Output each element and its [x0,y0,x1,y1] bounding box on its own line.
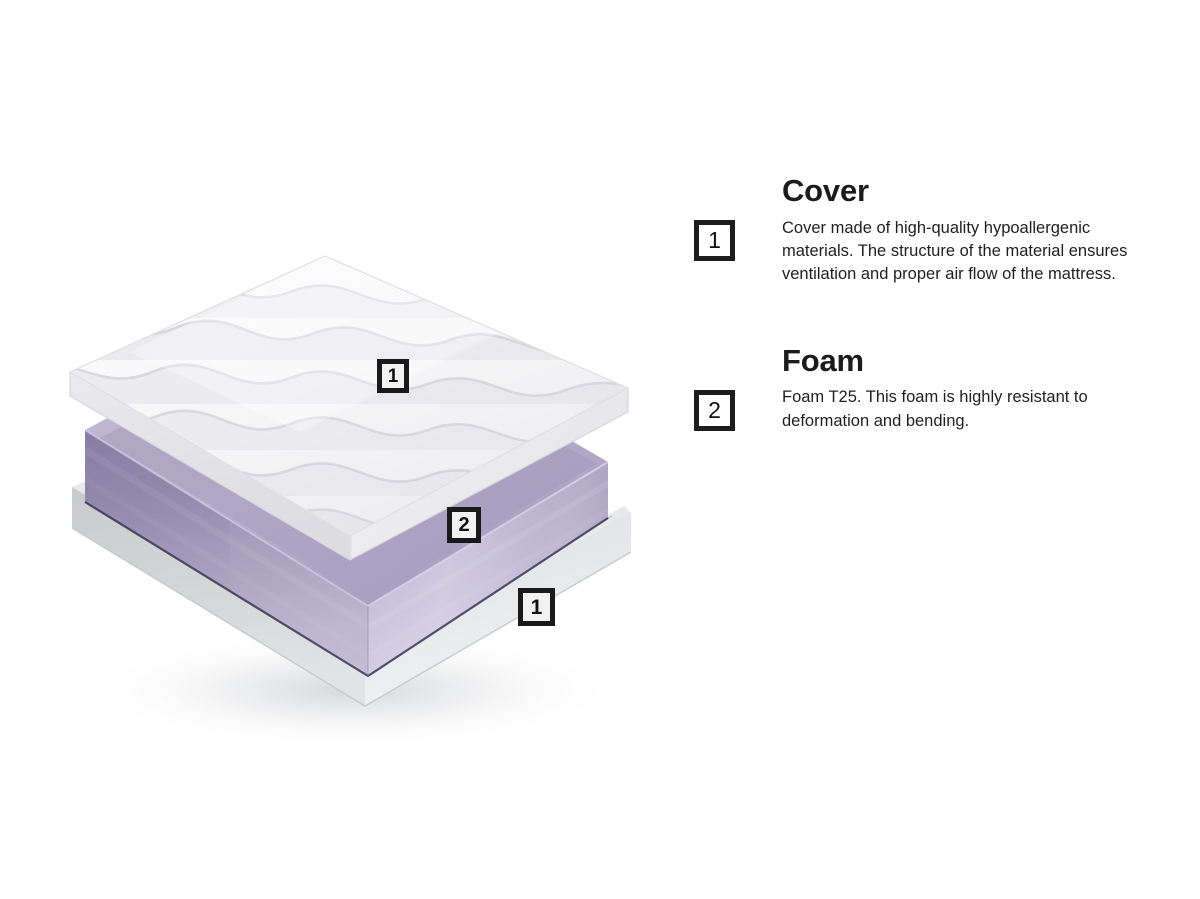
legend-badge-1: 1 [694,220,735,261]
product-illustration: 1 2 1 [0,0,700,899]
legend-body-foam: Foam Foam T25. This foam is highly resis… [782,345,1164,433]
legend-title-foam: Foam [782,345,1164,378]
legend-description-foam: Foam T25. This foam is highly resistant … [782,386,1152,433]
legend-badge-2: 2 [694,390,735,431]
legend-item-foam: 2 Foam Foam T25. This foam is highly res… [694,345,1164,433]
legend-panel: 1 Cover Cover made of high-quality hypoa… [694,175,1164,433]
legend-item-cover: 1 Cover Cover made of high-quality hypoa… [694,175,1164,287]
legend-description-cover: Cover made of high-quality hypoallergeni… [782,217,1152,287]
legend-title-cover: Cover [782,175,1164,208]
legend-body-cover: Cover Cover made of high-quality hypoall… [782,175,1164,287]
callout-marker-foam[interactable]: 2 [447,507,481,543]
mattress-cutaway-graphic [0,0,700,899]
callout-marker-cover-top[interactable]: 1 [377,359,409,393]
cover-front-corner [350,536,352,560]
callout-marker-cover-base[interactable]: 1 [518,588,555,626]
